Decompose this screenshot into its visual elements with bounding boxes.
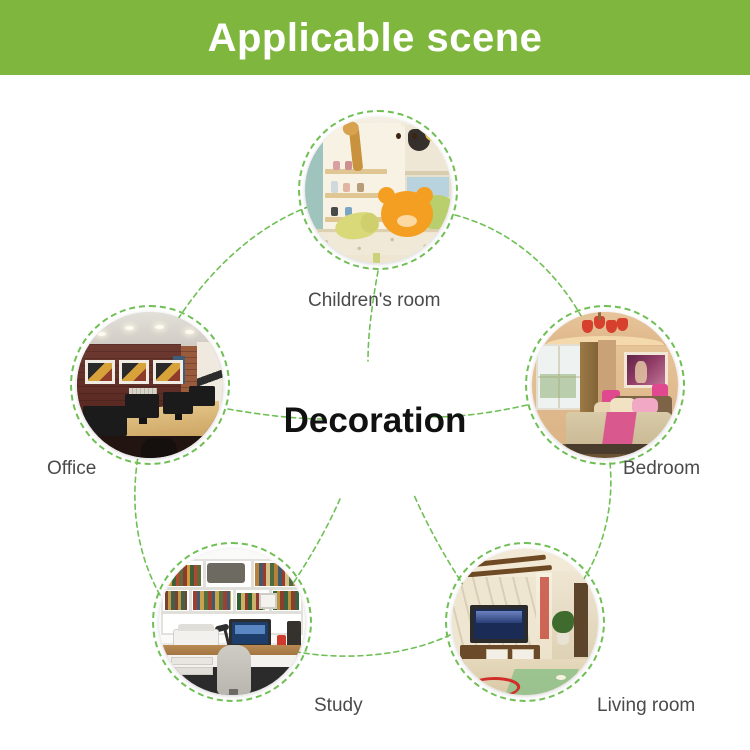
scene-node-bedroom[interactable] xyxy=(525,305,685,465)
bedroom-dashed-ring xyxy=(525,305,685,465)
study-dashed-ring xyxy=(152,542,312,702)
label-office: Office xyxy=(47,458,96,480)
scene-node-children-room[interactable] xyxy=(298,110,458,270)
label-study: Study xyxy=(314,695,363,717)
scene-diagram: Decoration xyxy=(0,75,750,750)
children-room-dashed-ring xyxy=(298,110,458,270)
scene-node-study[interactable] xyxy=(152,542,312,702)
scene-node-office[interactable] xyxy=(70,305,230,465)
label-bedroom: Bedroom xyxy=(623,458,700,480)
office-dashed-ring xyxy=(70,305,230,465)
label-living-room: Living room xyxy=(597,695,695,717)
living-room-dashed-ring xyxy=(445,542,605,702)
header-banner: Applicable scene xyxy=(0,0,750,75)
applicable-scene-infographic: Applicable scene xyxy=(0,0,750,750)
scene-node-living-room[interactable] xyxy=(445,542,605,702)
arc-children-center xyxy=(368,271,378,361)
page-title: Applicable scene xyxy=(208,18,543,58)
label-children-room: Children's room xyxy=(308,290,440,312)
